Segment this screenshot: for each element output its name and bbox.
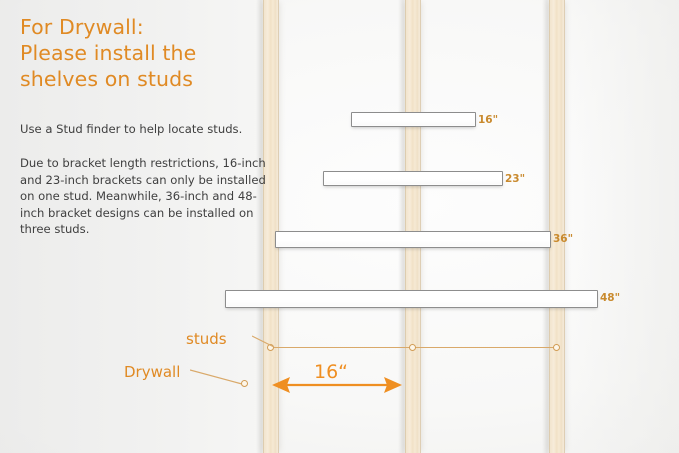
shelf-bar-48in <box>225 290 598 308</box>
shelf-length-label-16in: 16" <box>478 114 498 126</box>
drywall-anchor-node <box>241 380 248 387</box>
shelf-bar-16in <box>351 112 476 127</box>
instruction-paragraph-1: Use a Stud finder to help locate studs. <box>20 121 270 137</box>
instruction-paragraph-2: Due to bracket length restrictions, 16-i… <box>20 155 276 238</box>
stud-vertical-2 <box>405 0 421 453</box>
shelf-length-label-36in: 36" <box>553 233 573 245</box>
page-title: For Drywall: Please install the shelves … <box>20 14 265 92</box>
title-line-2: Please install the <box>20 40 265 66</box>
drywall-leader-line <box>190 366 250 394</box>
stud-node-1 <box>267 344 274 351</box>
studs-label: studs <box>186 330 227 348</box>
shelf-bar-23in <box>323 171 503 186</box>
title-line-3: shelves on studs <box>20 66 265 92</box>
stud-vertical-3 <box>549 0 565 453</box>
drywall-label: Drywall <box>124 363 180 381</box>
shelf-length-label-48in: 48" <box>600 292 620 304</box>
stud-node-2 <box>409 344 416 351</box>
shelf-bar-36in <box>275 231 551 248</box>
diagram-canvas: For Drywall: Please install the shelves … <box>0 0 679 453</box>
stud-node-3 <box>553 344 560 351</box>
stud-spacing-dimension-arrow <box>272 374 402 396</box>
wall-right-shading <box>569 0 679 453</box>
shelf-length-label-23in: 23" <box>505 173 525 185</box>
title-line-1: For Drywall: <box>20 14 265 40</box>
